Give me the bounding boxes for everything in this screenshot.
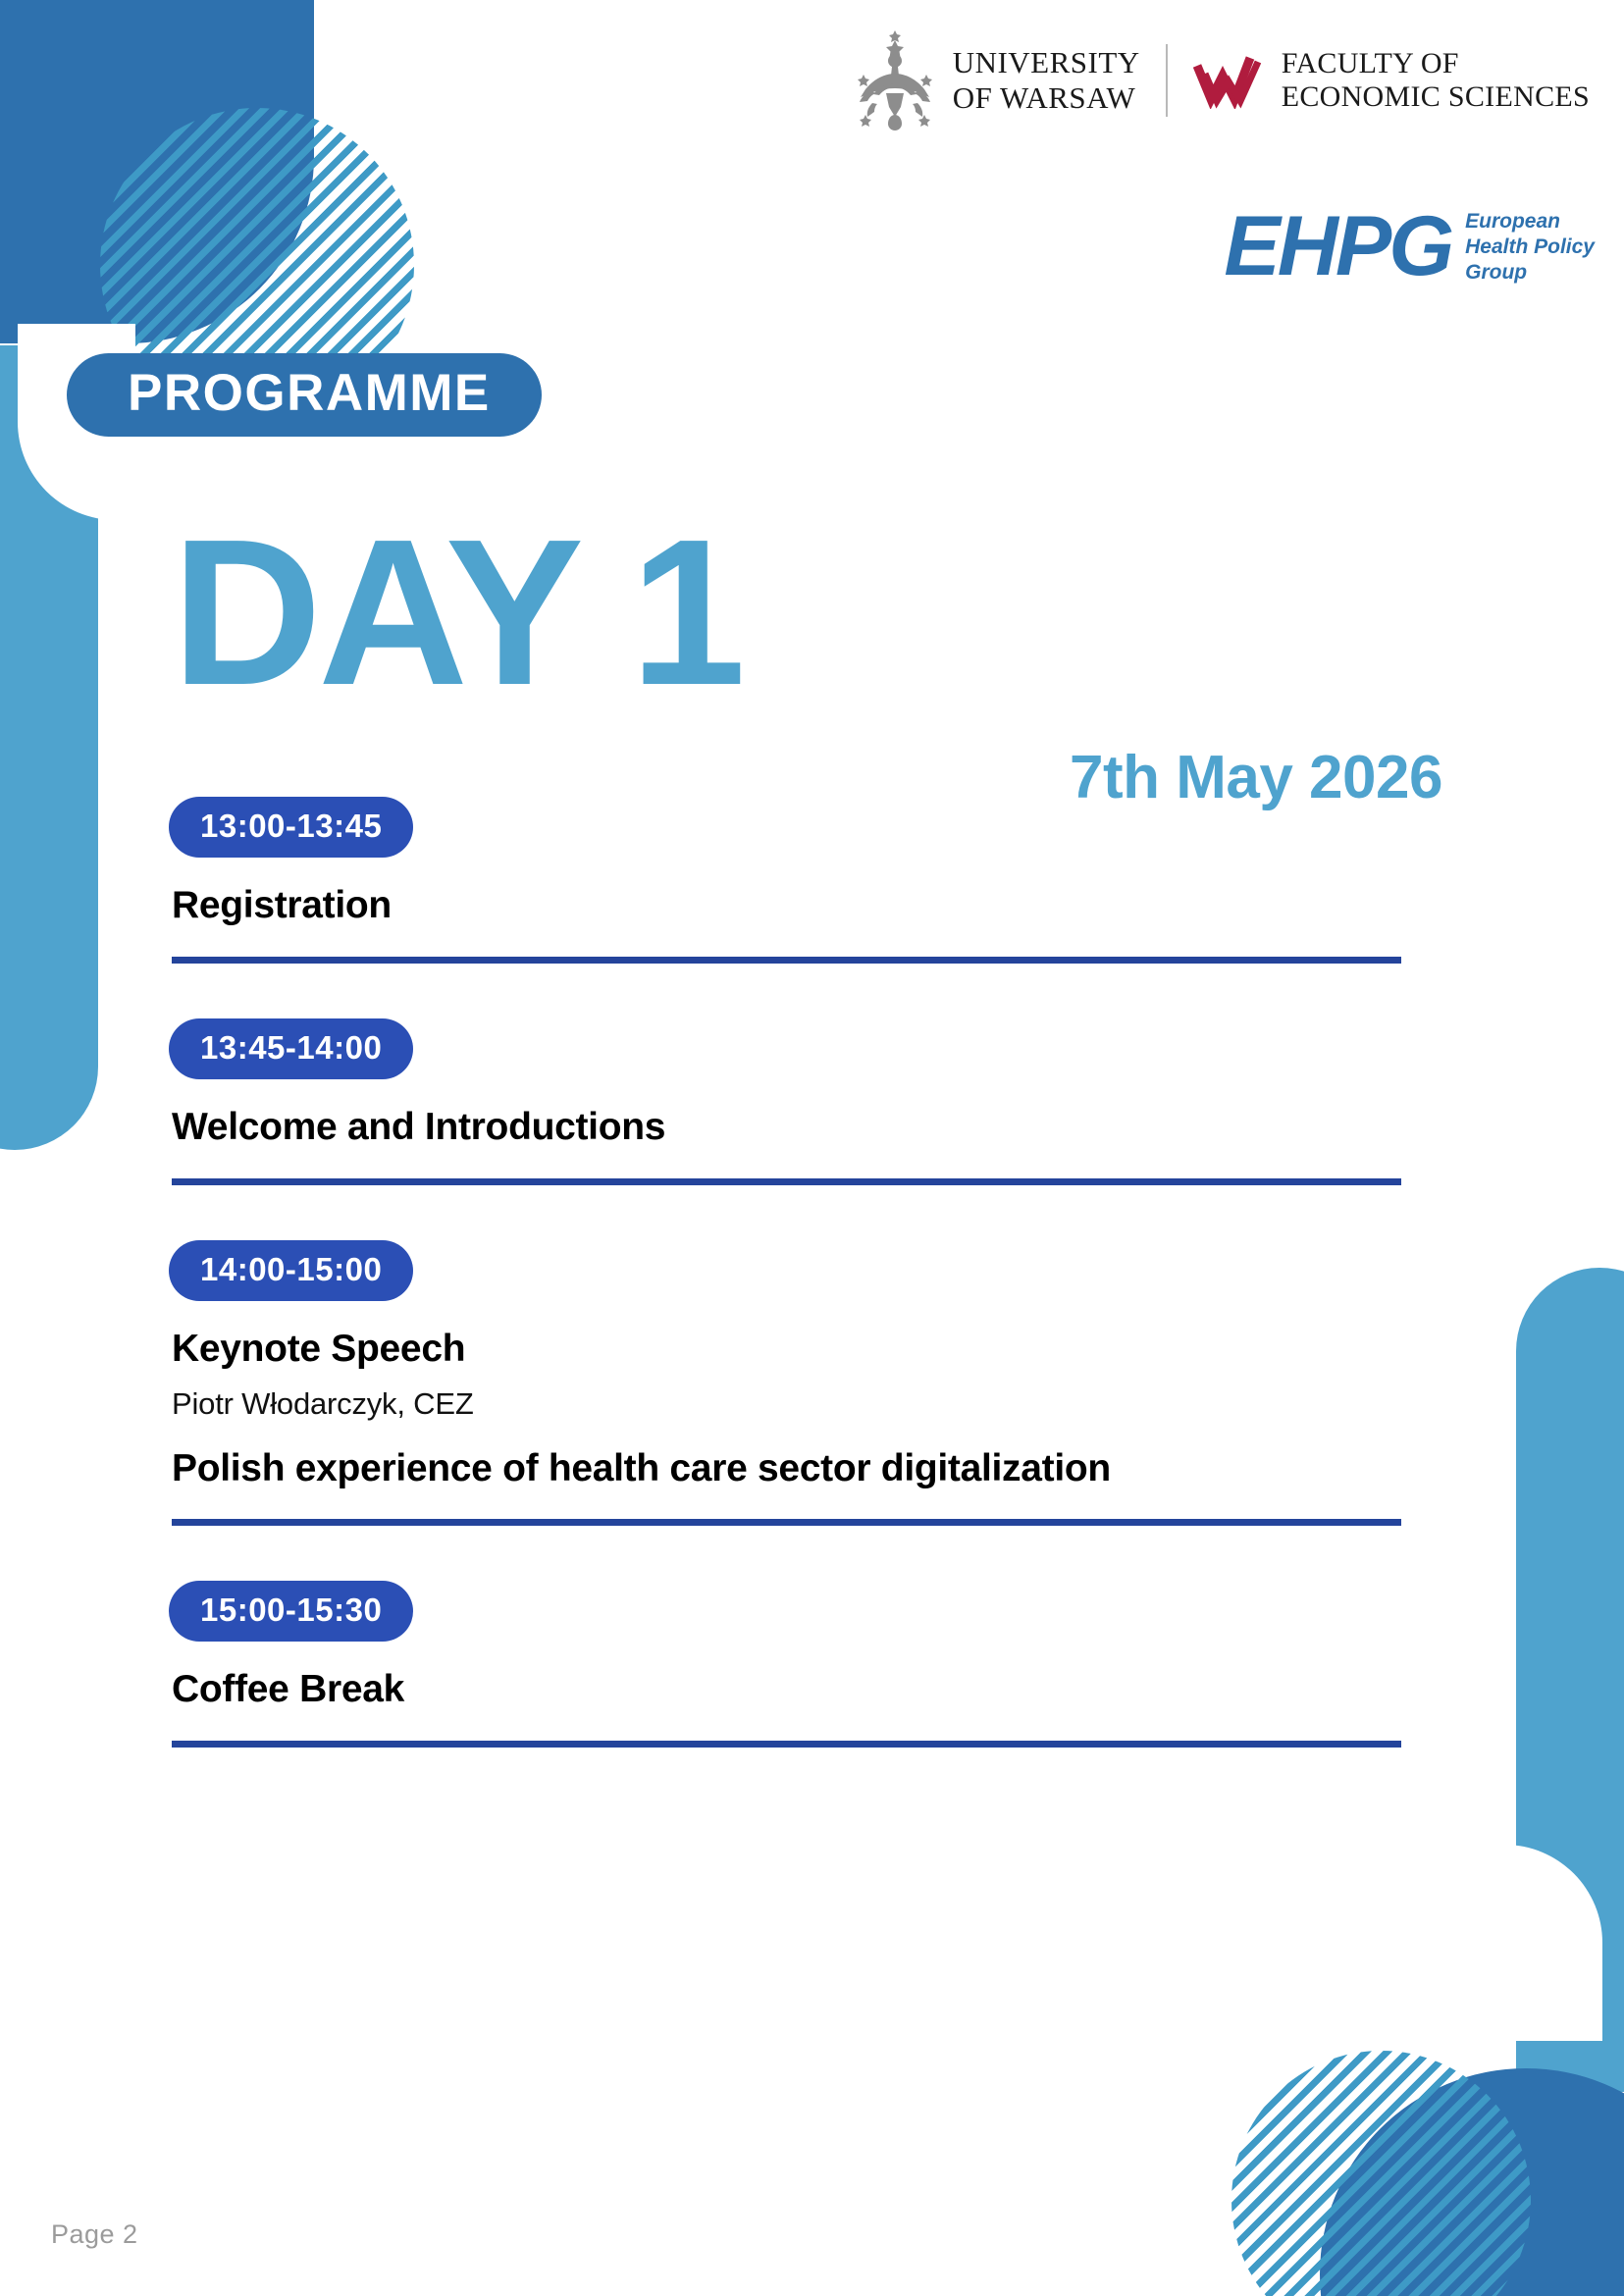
header-logos: UNIVERSITY OF WARSAW Faculty of Economic… [844, 22, 1590, 139]
session-title: Keynote Speech [172, 1327, 1624, 1373]
time-badge: 15:00-15:30 [169, 1581, 413, 1642]
entry-divider [172, 957, 1401, 964]
fes-line-2: Economic Sciences [1282, 80, 1590, 113]
entry-divider [172, 1741, 1401, 1748]
time-badge: 14:00-15:00 [169, 1240, 413, 1301]
programme-page: UNIVERSITY OF WARSAW Faculty of Economic… [0, 0, 1624, 2296]
logo-divider [1166, 44, 1168, 117]
uw-line-2: OF WARSAW [953, 80, 1136, 115]
entry-divider [172, 1519, 1401, 1526]
schedule-entry: 14:00-15:00 Keynote Speech Piotr Włodarc… [0, 1240, 1624, 1531]
faculty-wordmark: Faculty of Economic Sciences [1282, 47, 1590, 115]
university-of-warsaw-wordmark: UNIVERSITY OF WARSAW [953, 45, 1140, 115]
schedule-list: 13:00-13:45 Registration 13:45-14:00 Wel… [0, 797, 1624, 1751]
faculty-of-economic-sciences-logo: Faculty of Economic Sciences [1193, 47, 1590, 115]
page-number: Page 2 [51, 2219, 138, 2250]
schedule-entry: 13:45-14:00 Welcome and Introductions [0, 1018, 1624, 1189]
session-speaker: Piotr Włodarczyk, CEZ [172, 1385, 1624, 1422]
session-title: Registration [172, 883, 1624, 929]
ehpg-subtitle: European Health Policy Group [1465, 209, 1595, 286]
ehpg-sub-line-2: Health Policy [1465, 235, 1595, 258]
ehpg-sub-line-3: Group [1465, 261, 1527, 284]
time-badge: 13:00-13:45 [169, 797, 413, 858]
spacer [0, 1530, 1624, 1581]
ehpg-mark-text: EHPG [1224, 208, 1451, 286]
schedule-entry: 15:00-15:30 Coffee Break [0, 1581, 1624, 1751]
ehpg-logo: EHPG European Health Policy Group [1224, 208, 1595, 286]
entry-divider [172, 1178, 1401, 1185]
uw-line-1: UNIVERSITY [953, 45, 1140, 79]
bottom-right-striped-circle-decor [1231, 2051, 1531, 2296]
session-title: Coffee Break [172, 1667, 1624, 1713]
programme-badge: PROGRAMME [67, 353, 542, 437]
warsaw-eagle-crest-icon [853, 30, 937, 130]
university-of-warsaw-logo: UNIVERSITY OF WARSAW [853, 30, 1140, 130]
time-badge: 13:45-14:00 [169, 1018, 413, 1079]
fes-line-1: Faculty of [1282, 47, 1459, 79]
spacer [0, 967, 1624, 1018]
schedule-entry: 13:00-13:45 Registration [0, 797, 1624, 967]
session-title: Welcome and Introductions [172, 1105, 1624, 1151]
page-title: DAY 1 [172, 508, 742, 716]
zigzag-w-mark-icon [1193, 52, 1268, 109]
session-subtitle: Polish experience of health care sector … [172, 1446, 1624, 1492]
right-bar-notch-decor [1485, 1845, 1602, 2041]
top-left-blue-block [0, 0, 314, 343]
bottom-right-blue-blob-decor [1320, 2068, 1624, 2296]
ehpg-sub-line-1: European [1465, 210, 1560, 233]
spacer [0, 1189, 1624, 1240]
